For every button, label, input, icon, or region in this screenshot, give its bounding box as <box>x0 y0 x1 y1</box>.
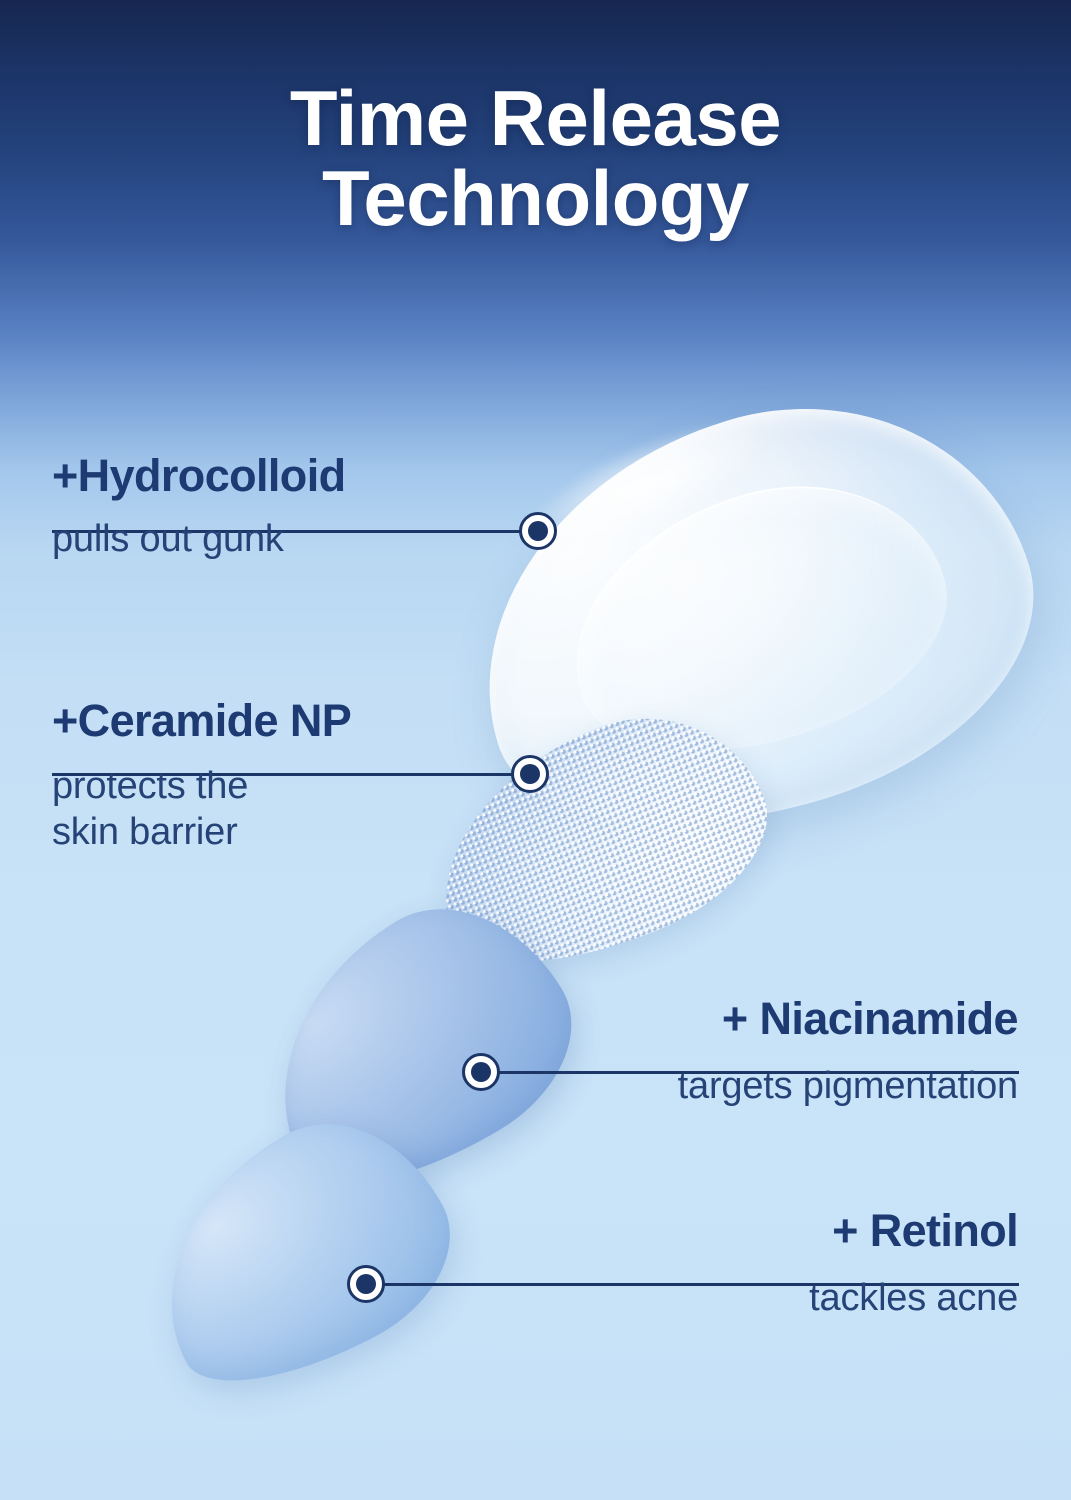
callout-ceramide-description-line-2: skin barrier <box>52 810 522 856</box>
callout-hydrocolloid-heading: +Hydrocolloid <box>52 452 522 499</box>
callout-niacinamide-description: targets pigmentation <box>418 1064 1018 1110</box>
callout-retinol-description: tackles acne <box>418 1276 1018 1322</box>
callout-hydrocolloid-description: pulls out gunk <box>52 517 522 563</box>
page-title-line-2: Technology <box>0 158 1071 238</box>
callout-ceramide-description: protects the skin barrier <box>52 764 522 855</box>
callout-retinol: + Retinol tackles acne <box>418 1207 1018 1322</box>
retinol-patch <box>148 1143 448 1363</box>
callout-ceramide-heading: +Ceramide NP <box>52 697 522 744</box>
callout-hydrocolloid: +Hydrocolloid pulls out gunk <box>52 452 522 563</box>
callout-retinol-heading: + Retinol <box>418 1207 1018 1254</box>
callout-niacinamide-heading: + Niacinamide <box>418 995 1018 1042</box>
hydrocolloid-marker-dot <box>519 512 557 550</box>
retinol-marker-dot <box>347 1265 385 1303</box>
page-title: Time Release Technology <box>0 78 1071 239</box>
page-title-line-1: Time Release <box>0 78 1071 158</box>
callout-niacinamide: + Niacinamide targets pigmentation <box>418 995 1018 1110</box>
callout-ceramide: +Ceramide NP protects the skin barrier <box>52 697 522 855</box>
callout-ceramide-description-line-1: protects the <box>52 764 522 810</box>
poster-canvas: Time Release Technology +Hydrocolloid pu… <box>0 0 1071 1500</box>
